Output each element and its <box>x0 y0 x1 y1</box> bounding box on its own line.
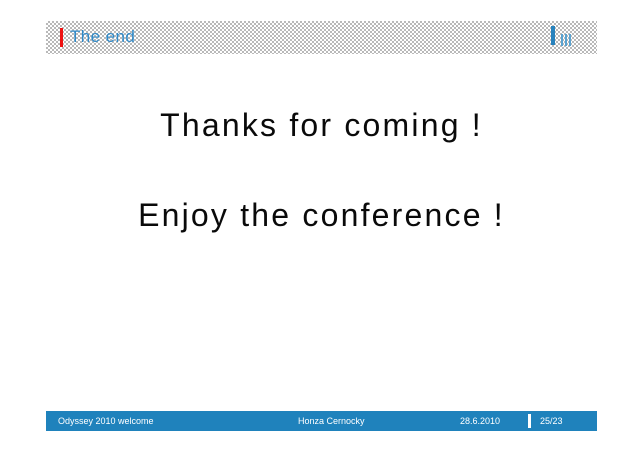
logo-stroke-icon <box>565 34 567 46</box>
body-text-line-1: Thanks for coming ! <box>46 104 597 146</box>
logo-stroke-icon <box>561 34 563 46</box>
logo-stroke-icon <box>569 34 571 46</box>
logo-main-bar-icon <box>551 26 555 45</box>
body-text-line-2: Enjoy the conference ! <box>46 194 597 236</box>
footer-separator <box>528 414 531 428</box>
presentation-slide: The end Thanks for coming ! Enjoy the co… <box>0 0 640 452</box>
slide-body: Thanks for coming ! Enjoy the conference… <box>46 90 597 236</box>
footer-author-name: Honza Cernocky <box>298 415 365 427</box>
slide-header-band: The end <box>46 21 597 54</box>
footer-date: 28.6.2010 <box>460 415 500 427</box>
footer-event-name: Odyssey 2010 welcome <box>58 415 154 427</box>
footer-page-number: 25/23 <box>540 415 563 427</box>
slide-footer-bar: Odyssey 2010 welcome Honza Cernocky 28.6… <box>46 411 597 431</box>
fit-logo <box>551 26 579 49</box>
page-title: The end <box>70 26 135 48</box>
red-accent-bar <box>60 28 63 47</box>
